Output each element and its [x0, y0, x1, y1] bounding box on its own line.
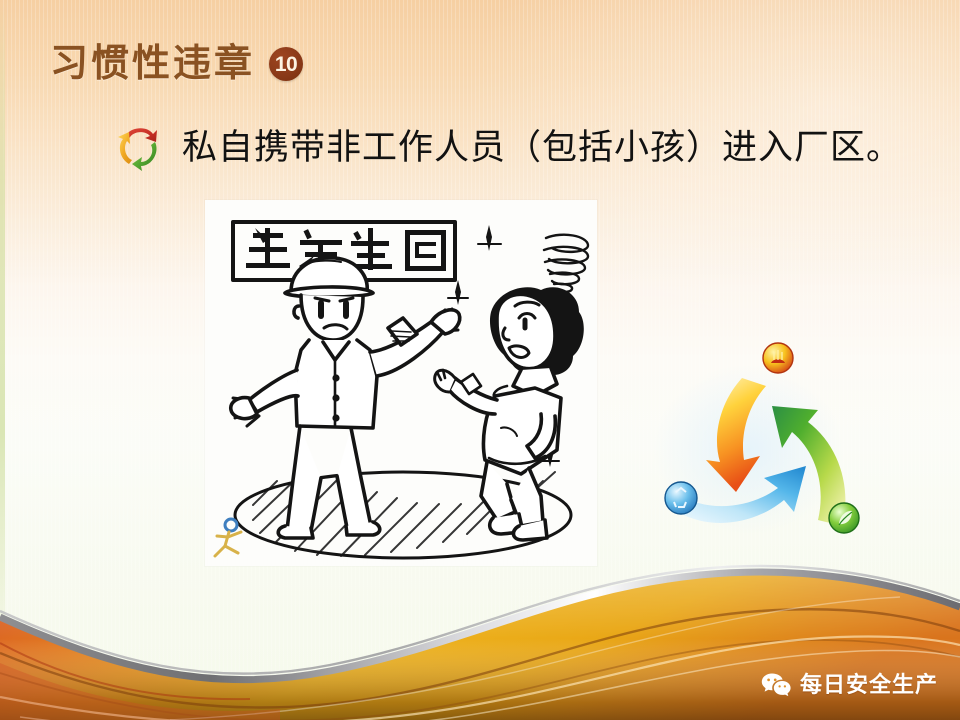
slide-title-row: 习惯性违章 10	[50, 45, 303, 83]
page-title: 习惯性违章	[50, 45, 255, 83]
body-text: 私自携带非工作人员（包括小孩）进入厂区。	[182, 130, 902, 165]
recycle-arrows-icon	[112, 120, 164, 174]
watermark: 每日安全生产	[761, 672, 938, 698]
leaf-badge	[829, 503, 859, 533]
blue-arrow	[672, 466, 806, 523]
illustration-panel	[205, 200, 597, 566]
body-line: 私自携带非工作人员（包括小孩）进入厂区。	[112, 120, 902, 174]
three-arrows-eco-graphic	[636, 330, 868, 562]
slide-canvas: 习惯性违章 10	[0, 0, 960, 720]
watermark-text: 每日安全生产	[800, 674, 938, 696]
recycle-globe-badge	[665, 482, 697, 514]
status-badge: 10	[269, 47, 303, 81]
wechat-icon	[761, 672, 791, 698]
orange-arrow	[706, 378, 766, 492]
sun-badge	[763, 343, 793, 373]
green-arrow	[772, 406, 845, 526]
left-edge-strip	[0, 0, 5, 720]
